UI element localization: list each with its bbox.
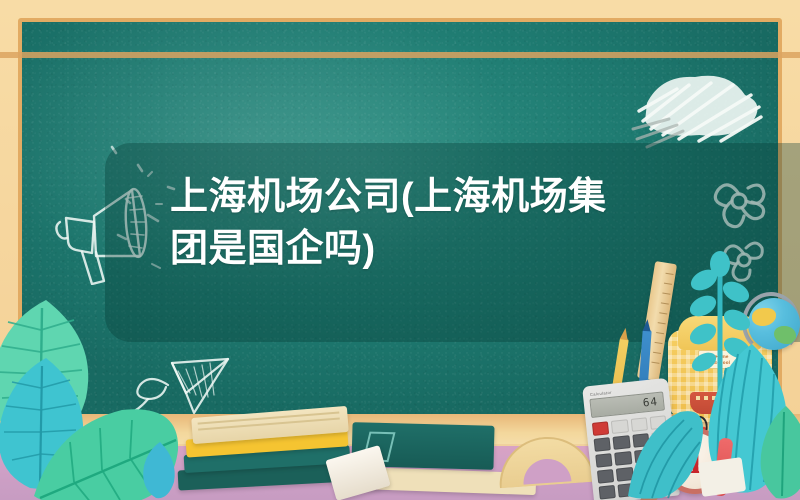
banner-image: 上海机场公司(上海机场集 团是国企吗) bbox=[0, 0, 800, 500]
title-line-1: 上海机场公司(上海机场集 bbox=[170, 176, 607, 218]
leaf-blue-small bbox=[138, 440, 182, 500]
calculator-brand: Calculator bbox=[590, 390, 612, 397]
frame-top-edge bbox=[0, 52, 800, 58]
paper-sheet bbox=[698, 457, 746, 497]
page-title: 上海机场公司(上海机场集 团是国企吗) bbox=[170, 172, 690, 275]
title-line-2: 团是国企吗) bbox=[170, 228, 376, 270]
frond-green-right bbox=[756, 404, 800, 500]
frond-teal-wave bbox=[622, 404, 708, 500]
